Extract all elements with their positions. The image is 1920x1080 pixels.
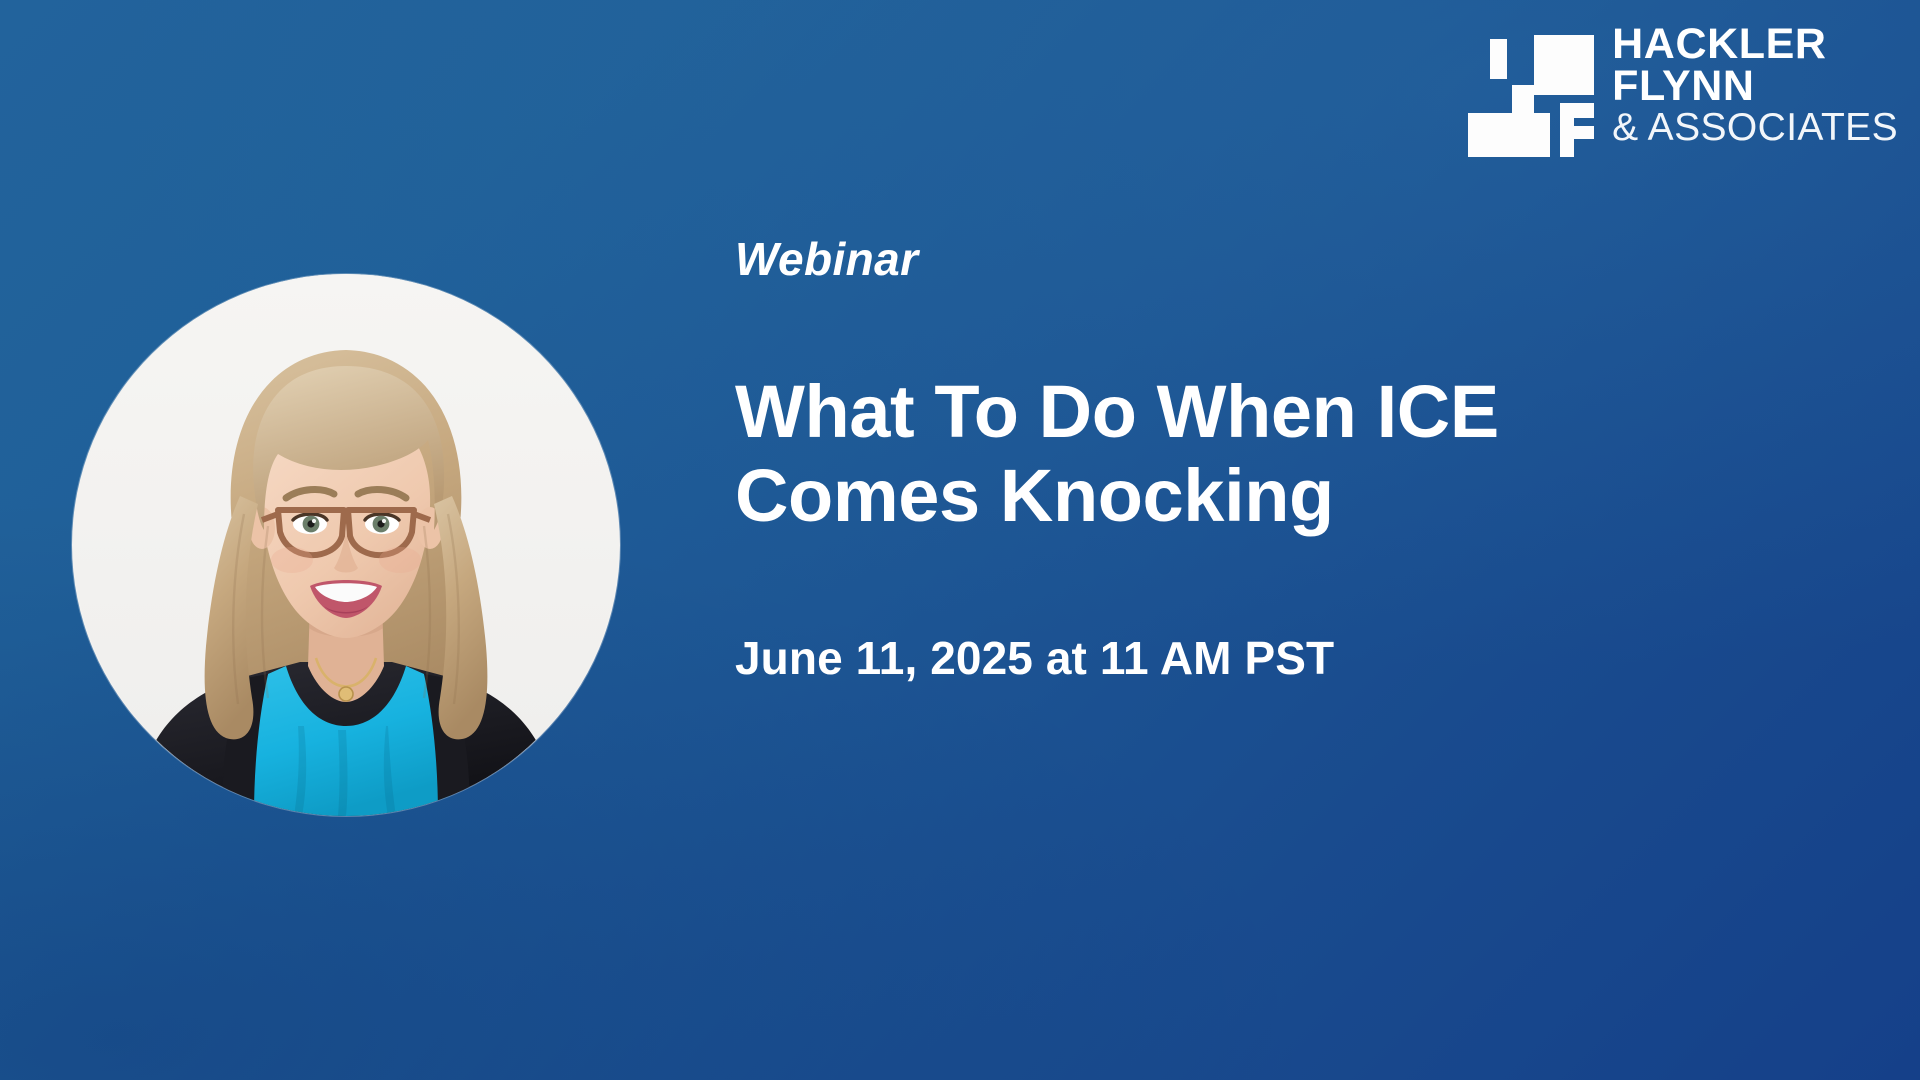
monogram-square-shape [1534, 35, 1594, 95]
webinar-text-column: Webinar What To Do When ICE Comes Knocki… [735, 236, 1735, 684]
brand-name-line-3: & ASSOCIATES [1612, 109, 1898, 147]
brand-wordmark: HACKLER FLYNN & ASSOCIATES [1612, 22, 1898, 147]
speaker-portrait-avatar [72, 274, 620, 816]
eyebrow-label: Webinar [735, 236, 1735, 282]
page-title: What To Do When ICE Comes Knocking [735, 370, 1665, 537]
hackler-flynn-monogram-icon [1482, 27, 1594, 143]
page-title-line-2: Comes Knocking [735, 454, 1665, 538]
monogram-f-spine-shape [1560, 103, 1574, 157]
portrait-blush-left [271, 547, 313, 573]
portrait-necklace-pendant [339, 687, 353, 701]
monogram-bar-shape [1490, 39, 1507, 79]
brand-name-line-1: HACKLER [1612, 24, 1898, 66]
brand-name-line-2: FLYNN [1612, 66, 1898, 108]
brand-logo: HACKLER FLYNN & ASSOCIATES [1482, 22, 1898, 147]
portrait-blush-right [379, 547, 421, 573]
monogram-base-shape [1468, 113, 1550, 157]
webinar-promo-canvas: HACKLER FLYNN & ASSOCIATES [0, 0, 1920, 1080]
event-datetime: June 11, 2025 at 11 AM PST [735, 633, 1735, 684]
monogram-f-arm-shape [1574, 126, 1594, 139]
speaker-portrait-illustration [72, 274, 620, 816]
page-title-line-1: What To Do When ICE [735, 370, 1665, 454]
